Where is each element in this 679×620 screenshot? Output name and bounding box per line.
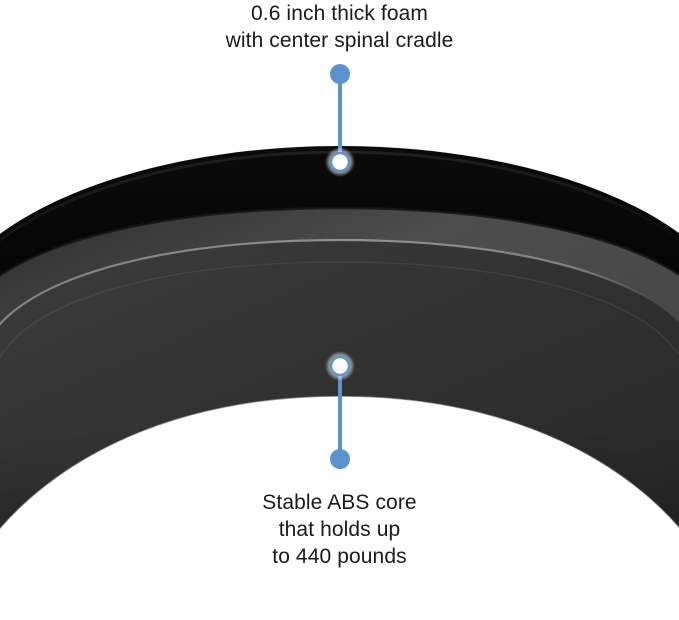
foam-callout-marker[interactable] (325, 64, 355, 177)
product-diagram-stage: 0.6 inch thick foam with center spinal c… (0, 0, 679, 620)
core-callout-anchor-dot[interactable] (331, 357, 349, 375)
core-callout-end-dot[interactable] (330, 449, 350, 469)
foam-callout-end-dot[interactable] (330, 64, 350, 84)
chair-cushion-cross-section-illustration (0, 0, 679, 620)
foam-callout-anchor-dot[interactable] (331, 153, 349, 171)
